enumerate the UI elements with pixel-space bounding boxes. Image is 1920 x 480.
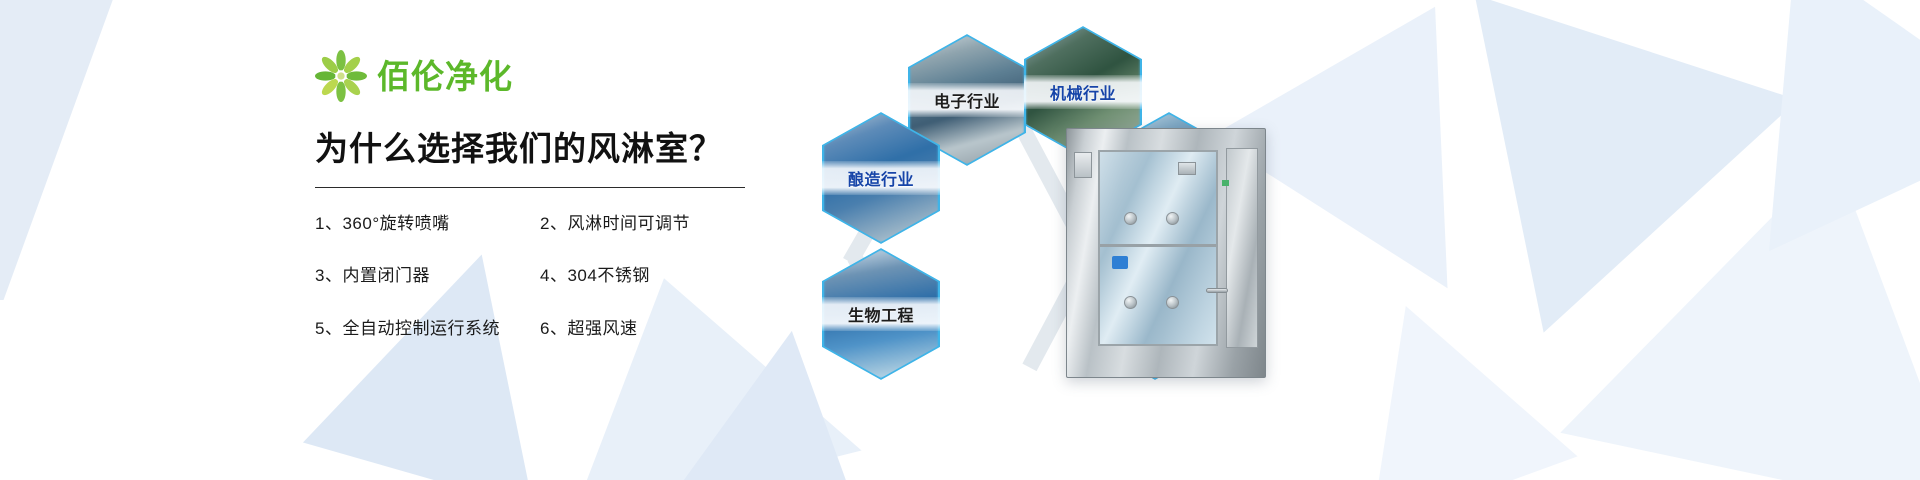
list-item: 1、360°旋转喷嘴 (315, 214, 540, 234)
control-panel (1074, 152, 1092, 178)
air-nozzle (1124, 296, 1137, 309)
promo-banner: 佰伦净化 为什么选择我们的风淋室？ 1、360°旋转喷嘴 2、风淋时间可调节 3… (0, 0, 1920, 480)
green-flower-logo-icon (315, 50, 367, 102)
title-divider (315, 187, 745, 188)
cabinet-glass-door (1098, 150, 1218, 346)
brand-name: 佰伦净化 (377, 60, 513, 93)
industry-hex-bioengineering[interactable]: 生物工程 (822, 248, 940, 380)
industry-label: 生物工程 (822, 297, 940, 331)
brand-badge (1112, 256, 1128, 269)
status-indicator (1222, 180, 1229, 186)
brand-logo: 佰伦净化 (315, 48, 745, 104)
industry-label: 电子行业 (908, 83, 1026, 117)
air-nozzle (1166, 296, 1179, 309)
page-title: 为什么选择我们的风淋室？ (315, 122, 745, 170)
air-nozzle (1124, 212, 1137, 225)
door-handle (1206, 288, 1228, 293)
list-item: 5、全自动控制运行系统 (315, 319, 540, 339)
list-item: 2、风淋时间可调节 (540, 214, 745, 234)
air-shower-cabinet-image (1066, 128, 1266, 378)
display-screen (1178, 162, 1196, 175)
list-item: 3、内置闭门器 (315, 266, 540, 286)
list-item: 4、304不锈钢 (540, 266, 745, 286)
industry-label: 机械行业 (1024, 75, 1142, 109)
feature-list: 1、360°旋转喷嘴 2、风淋时间可调节 3、内置闭门器 4、304不锈钢 5、… (315, 214, 745, 339)
list-item: 6、超强风速 (540, 319, 745, 339)
left-content-column: 佰伦净化 为什么选择我们的风淋室？ 1、360°旋转喷嘴 2、风淋时间可调节 3… (315, 48, 745, 339)
cabinet-side-panel (1226, 148, 1258, 348)
industry-label: 酿造行业 (822, 161, 940, 195)
air-nozzle (1166, 212, 1179, 225)
